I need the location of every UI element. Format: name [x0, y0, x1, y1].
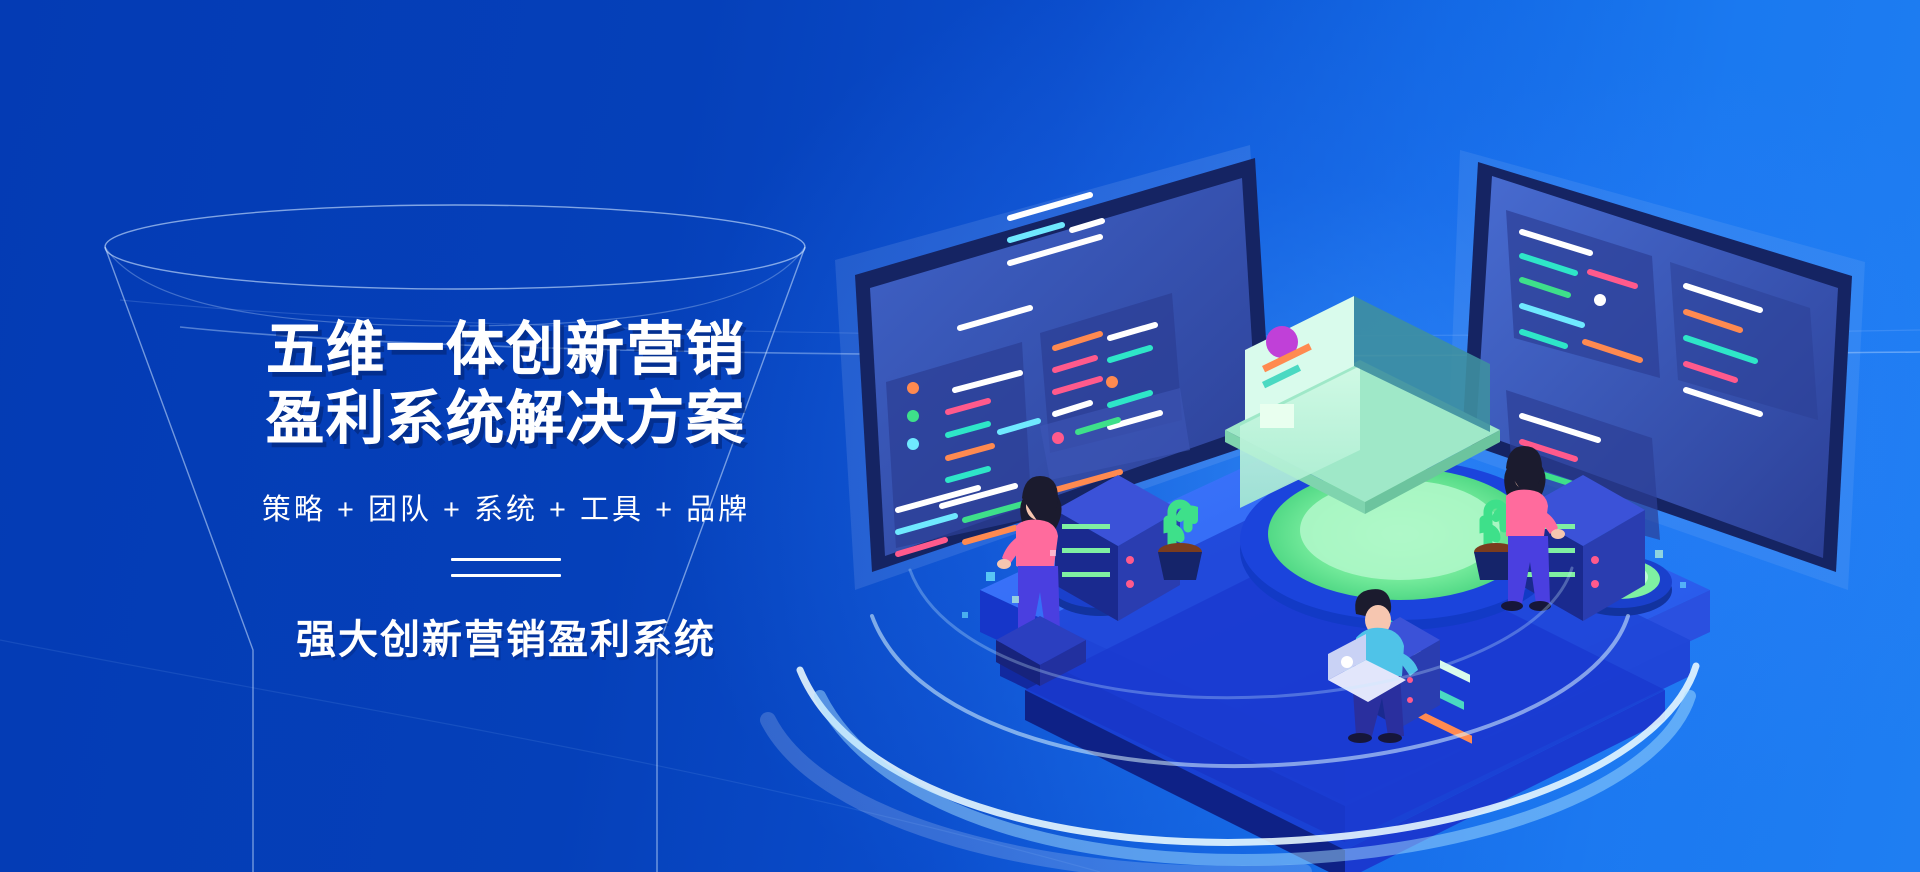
double-rule-divider — [451, 558, 561, 577]
isometric-illustration — [800, 120, 1920, 872]
subline-keywords: 策略 + 团队 + 系统 + 工具 + 品牌 — [262, 486, 750, 528]
tagline: 强大创新营销盈利系统 — [296, 607, 716, 665]
headline-line-2: 盈利系统解决方案 — [266, 387, 746, 452]
divider-bar-bottom — [451, 574, 561, 577]
marketing-banner: 五维一体创新营销 盈利系统解决方案 策略 + 团队 + 系统 + 工具 + 品牌… — [0, 0, 1920, 872]
divider-bar-top — [451, 558, 561, 561]
headline-line-1: 五维一体创新营销 — [266, 318, 746, 383]
banner-text-block: 五维一体创新营销 盈利系统解决方案 策略 + 团队 + 系统 + 工具 + 品牌… — [196, 318, 816, 665]
